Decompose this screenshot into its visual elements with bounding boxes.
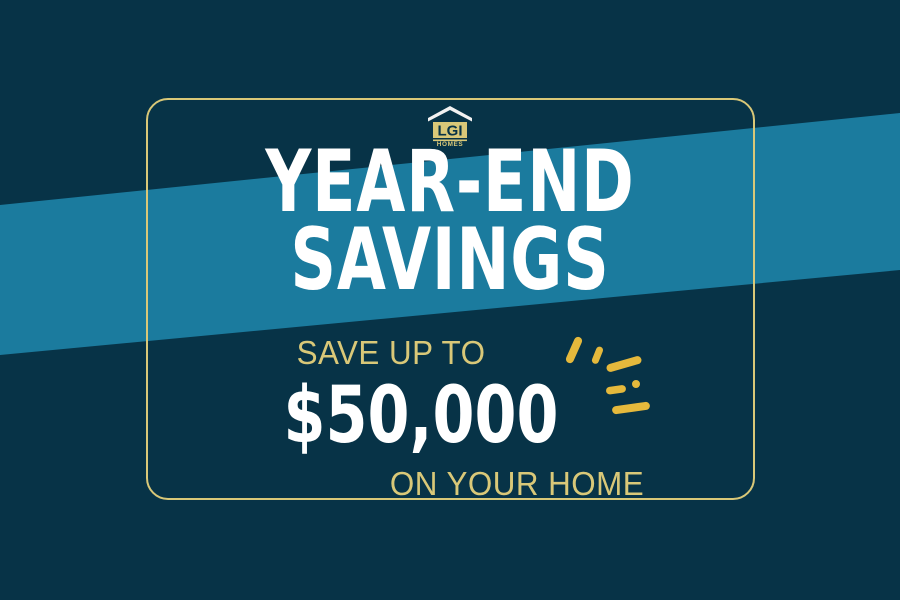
sparkle-burst-icon: [556, 330, 656, 425]
svg-text:HOMES: HOMES: [437, 141, 464, 148]
logo-mark: LGI HOMES: [424, 104, 476, 148]
lgi-homes-logo: LGI HOMES: [0, 104, 900, 148]
gold-border-frame: [146, 98, 755, 500]
svg-text:LGI: LGI: [438, 123, 463, 140]
promotional-banner: LGI HOMES YEAR-END SAVINGS SAVE UP TO $5…: [0, 0, 900, 600]
